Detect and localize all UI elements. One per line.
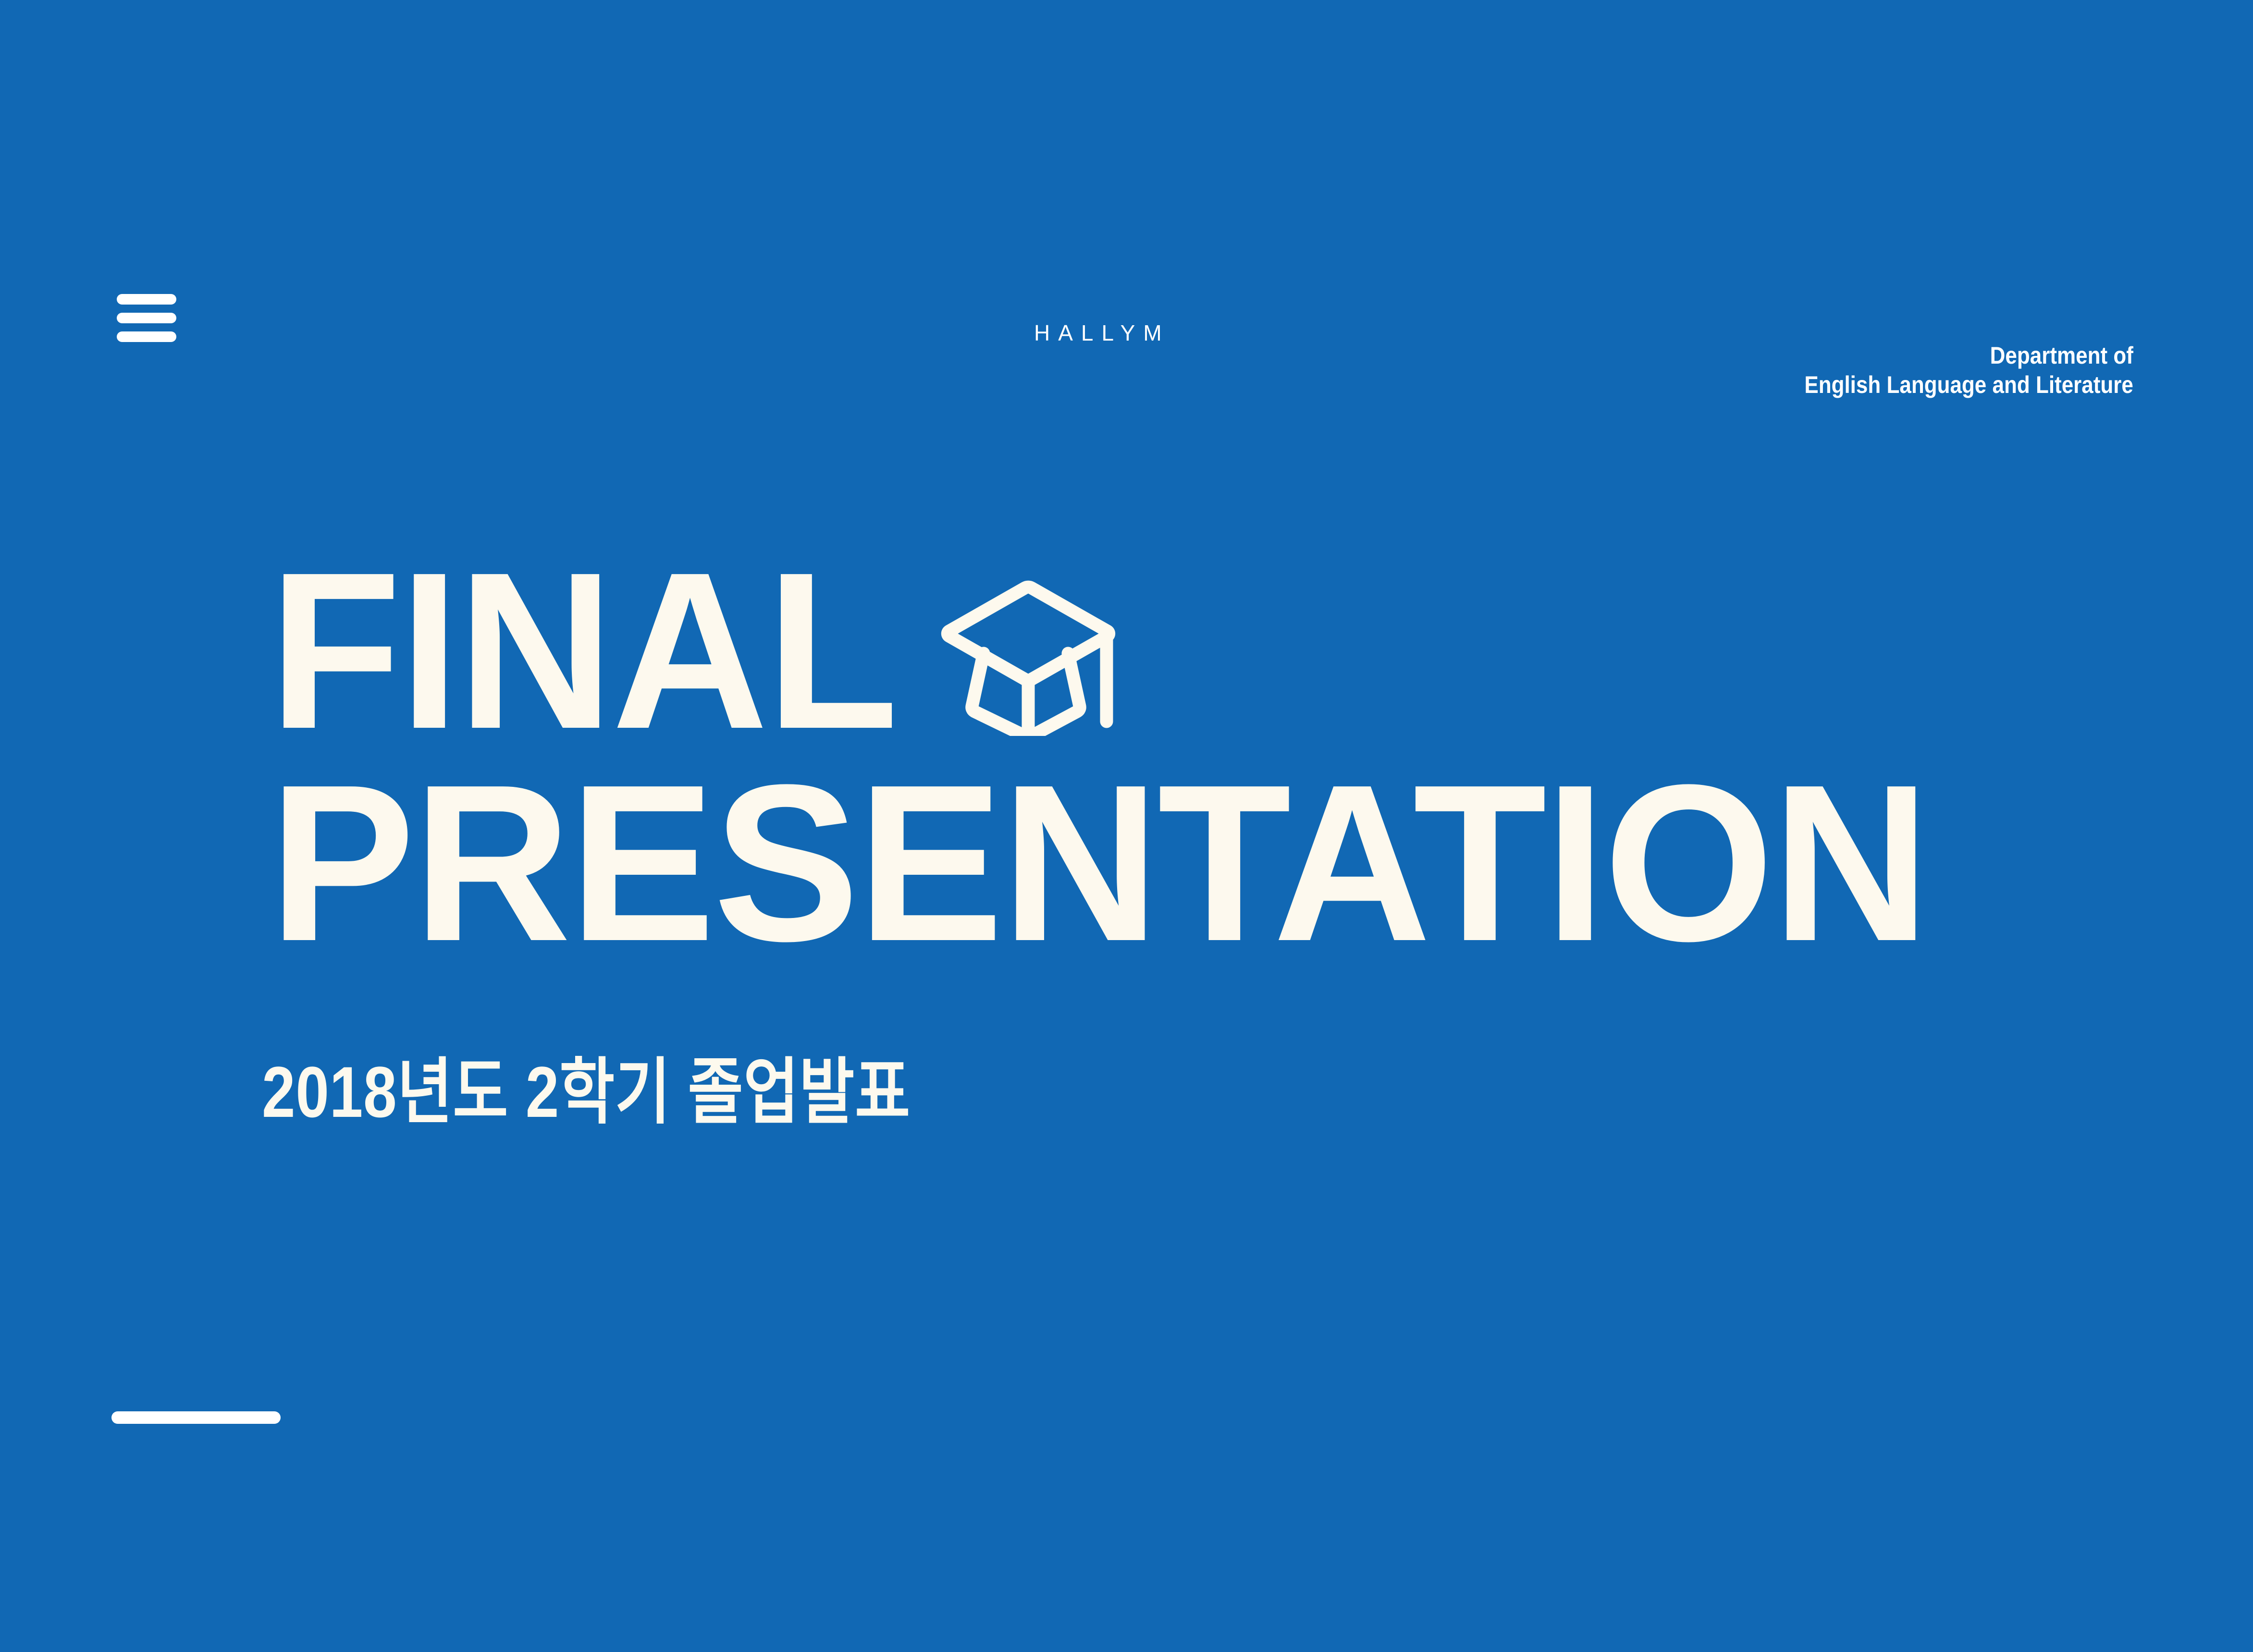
department-line-2: English Language and Literature xyxy=(1804,370,2133,400)
department-line-1: Department of xyxy=(1804,341,2133,370)
hamburger-bar-3 xyxy=(117,331,176,342)
hamburger-bar-2 xyxy=(117,313,176,323)
hamburger-bar-1 xyxy=(117,294,176,305)
bottom-divider-rule xyxy=(111,1411,281,1424)
hamburger-menu-icon[interactable] xyxy=(117,294,176,342)
headline-word-presentation: PRESENTATION xyxy=(269,767,1928,959)
headline-row-1: FINAL xyxy=(269,550,1963,752)
headline-block: FINAL PRESENTATION xyxy=(269,550,1963,964)
department-label: Department of English Language and Liter… xyxy=(1760,341,2133,400)
presentation-slide: HALLYM Department of English Language an… xyxy=(0,0,2253,1652)
headline-word-final: FINAL xyxy=(269,555,897,747)
subtitle-korean: 2018년도 2학기 졸업발표 xyxy=(262,1056,911,1128)
brand-wordmark: HALLYM xyxy=(1034,322,1170,344)
graduation-cap-icon xyxy=(937,577,1125,736)
headline-row-2: PRESENTATION xyxy=(269,762,1963,964)
